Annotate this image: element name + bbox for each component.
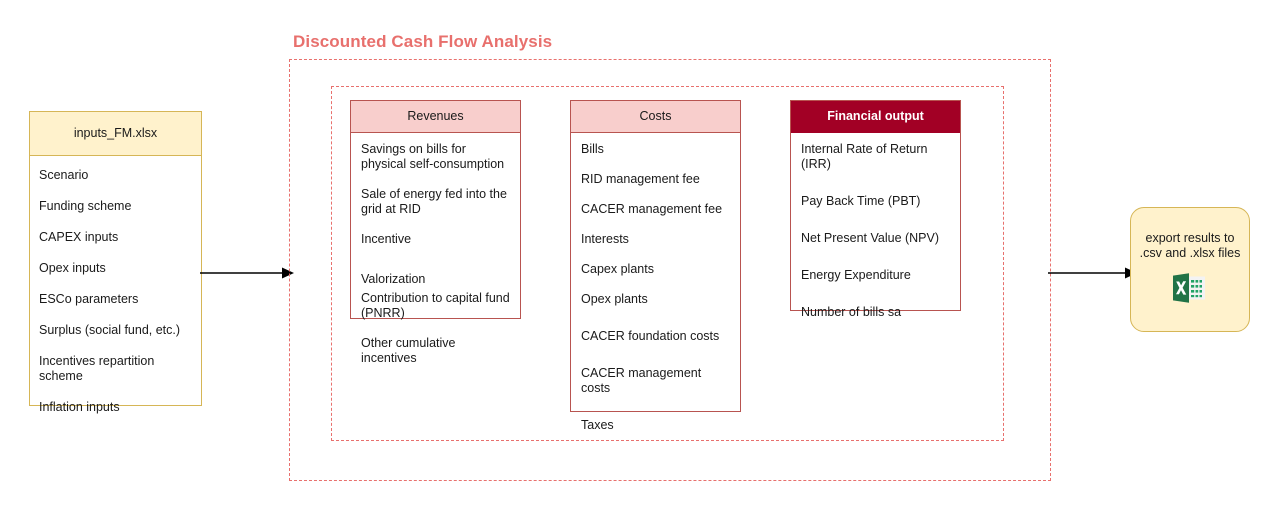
list-item: Incentives repartition scheme [39, 354, 192, 384]
list-item: Savings on bills for physical self-consu… [361, 142, 510, 172]
inputs-card-header: inputs_FM.xlsx [30, 112, 201, 156]
financial-output-card-body: Internal Rate of Return (IRR) Pay Back T… [791, 133, 960, 350]
list-item: CACER management fee [581, 202, 730, 217]
list-item: Opex plants [581, 292, 730, 307]
revenues-card[interactable]: Revenues Savings on bills for physical s… [350, 100, 521, 319]
list-item: Funding scheme [39, 199, 192, 214]
revenues-card-body: Savings on bills for physical self-consu… [351, 133, 520, 374]
list-item: Scenario [39, 168, 192, 183]
list-item: CACER management costs [581, 366, 730, 396]
list-item: RID management fee [581, 172, 730, 187]
list-item: Internal Rate of Return (IRR) [801, 142, 950, 172]
list-item: CACER foundation costs [581, 329, 730, 344]
list-item: Number of bills sa [801, 305, 950, 320]
inputs-file-card[interactable]: inputs_FM.xlsx Scenario Funding scheme C… [29, 111, 202, 406]
costs-card[interactable]: Costs Bills RID management fee CACER man… [570, 100, 741, 412]
diagram-canvas: inputs_FM.xlsx Scenario Funding scheme C… [0, 0, 1281, 511]
list-item: Valorization [361, 272, 510, 287]
list-item: Bills [581, 142, 730, 157]
dcf-title: Discounted Cash Flow Analysis [293, 32, 552, 52]
costs-card-body: Bills RID management fee CACER managemen… [571, 133, 740, 441]
arrow-dcf-to-export [1048, 258, 1138, 288]
export-results-card[interactable]: export results to .csv and .xlsx files [1130, 207, 1250, 332]
list-item: Opex inputs [39, 261, 192, 276]
arrow-inputs-to-dcf [200, 258, 295, 288]
list-item: Taxes [581, 418, 730, 433]
list-item: Incentive [361, 232, 510, 247]
list-item: Net Present Value (NPV) [801, 231, 950, 246]
list-item: Pay Back Time (PBT) [801, 194, 950, 209]
export-results-label: export results to .csv and .xlsx files [1137, 231, 1243, 261]
list-item: Surplus (social fund, etc.) [39, 323, 192, 338]
financial-output-card[interactable]: Financial output Internal Rate of Return… [790, 100, 961, 311]
list-item: Sale of energy fed into the grid at RID [361, 187, 510, 217]
list-item: Inflation inputs [39, 400, 192, 415]
list-item: Contribution to capital fund (PNRR) [361, 291, 510, 321]
list-item: Energy Expenditure [801, 268, 950, 283]
excel-icon [1173, 273, 1207, 308]
list-item: Interests [581, 232, 730, 247]
list-item: Other cumulative incentives [361, 336, 510, 366]
costs-card-header: Costs [571, 101, 740, 133]
list-item: ESCo parameters [39, 292, 192, 307]
financial-output-card-header: Financial output [791, 101, 960, 133]
list-item: Capex plants [581, 262, 730, 277]
inputs-card-body: Scenario Funding scheme CAPEX inputs Ope… [30, 156, 201, 443]
revenues-card-header: Revenues [351, 101, 520, 133]
list-item: CAPEX inputs [39, 230, 192, 245]
